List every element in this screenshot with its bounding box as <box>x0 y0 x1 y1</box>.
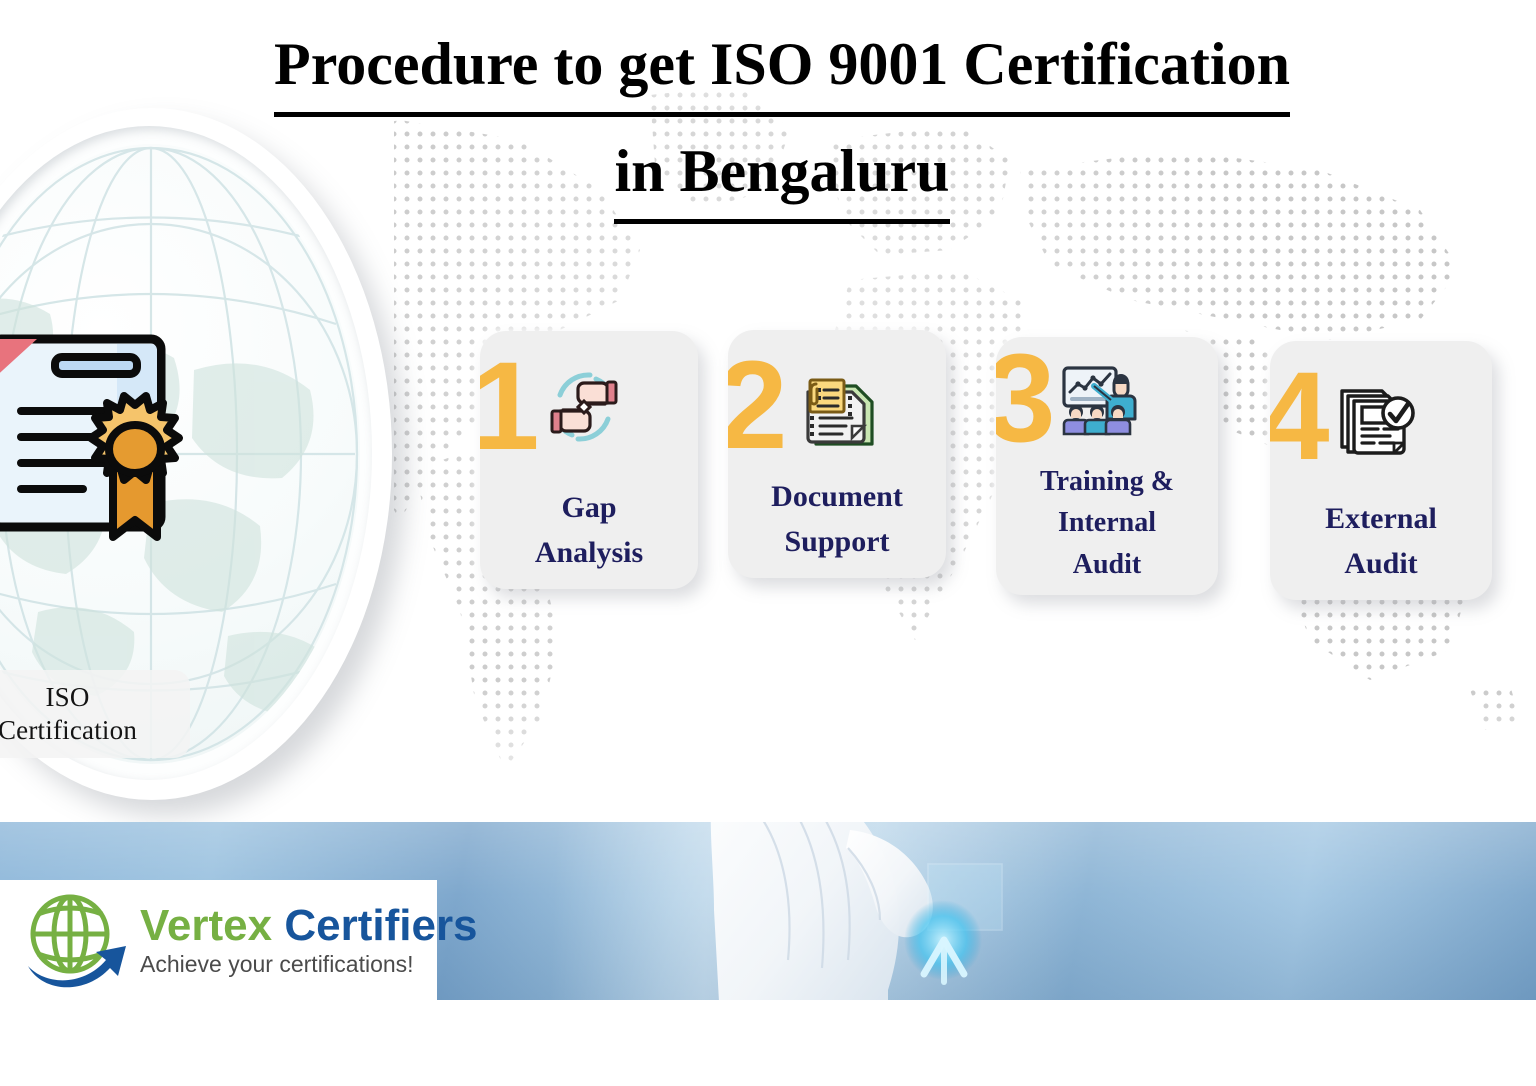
page-title-line1: Procedure to get ISO 9001 Certification <box>274 18 1290 117</box>
step-card-4-body: 4 <box>1270 341 1492 600</box>
banner-bottom-edge <box>0 1000 1536 1006</box>
step-card-1-body: 1 <box>480 331 698 589</box>
step-card-1-label: Gap Analysis <box>486 486 692 575</box>
step-label-1-line1: Gap <box>486 486 692 530</box>
infographic-canvas: ISO Certification Procedure to get ISO 9… <box>0 0 1536 1086</box>
logo-wordmark: Vertex Certifiers Achieve your certifica… <box>140 903 478 977</box>
step-number-2: 2 <box>728 353 784 459</box>
step-card-1[interactable]: 1 <box>480 331 698 589</box>
step-card-3-label: Training & Internal Audit <box>1002 461 1212 585</box>
step-card-1-header: 1 <box>480 347 698 467</box>
certificate-seal-icon <box>0 313 207 553</box>
step-label-3-line2: Internal <box>1002 502 1212 543</box>
iso-certification-label: ISO Certification <box>0 670 190 758</box>
brand-name: Vertex Certifiers <box>140 903 478 949</box>
step-label-3-line1: Training & <box>1002 461 1212 502</box>
page-title-line2: in Bengaluru <box>614 125 949 224</box>
brand-tagline: Achieve your certifications! <box>140 952 478 977</box>
step-card-3-body: 3 <box>996 337 1218 595</box>
documents-check-icon <box>1328 371 1420 463</box>
step-label-1-line2: Analysis <box>486 531 692 575</box>
document-notes-icon <box>786 360 878 452</box>
step-label-3-line3: Audit <box>1002 544 1212 585</box>
partnership-hands-icon <box>538 361 630 453</box>
step-number-4: 4 <box>1270 364 1326 470</box>
step-label-4-line1: External <box>1276 497 1486 541</box>
step-number-3: 3 <box>996 346 1052 452</box>
globe-arrow-logo-icon <box>22 890 134 990</box>
brand-word-vertex: Vertex <box>140 901 272 950</box>
page-title: Procedure to get ISO 9001 Certification … <box>232 18 1332 224</box>
vertex-certifiers-logo[interactable]: Vertex Certifiers Achieve your certifica… <box>0 880 437 1000</box>
step-card-4-header: 4 <box>1270 357 1492 477</box>
iso-label-line1: ISO <box>45 681 89 714</box>
step-card-2-header: 2 <box>728 346 946 466</box>
brand-word-certifiers: Certifiers <box>284 901 477 950</box>
step-label-2-line1: Document <box>734 475 940 519</box>
gloved-hand-graphic <box>690 822 1160 1006</box>
step-card-3[interactable]: 3 <box>996 337 1218 595</box>
step-card-4-label: External Audit <box>1276 497 1486 586</box>
step-card-2-body: 2 <box>728 330 946 578</box>
step-label-4-line2: Audit <box>1276 542 1486 586</box>
step-label-2-line2: Support <box>734 520 940 564</box>
step-card-4[interactable]: 4 <box>1270 341 1492 600</box>
training-presentation-icon <box>1054 356 1140 442</box>
step-card-2-label: Document Support <box>734 475 940 564</box>
step-card-3-header: 3 <box>996 347 1218 451</box>
step-card-2[interactable]: 2 <box>728 330 946 578</box>
step-number-1: 1 <box>480 354 536 460</box>
iso-label-line2: Certification <box>0 714 137 747</box>
